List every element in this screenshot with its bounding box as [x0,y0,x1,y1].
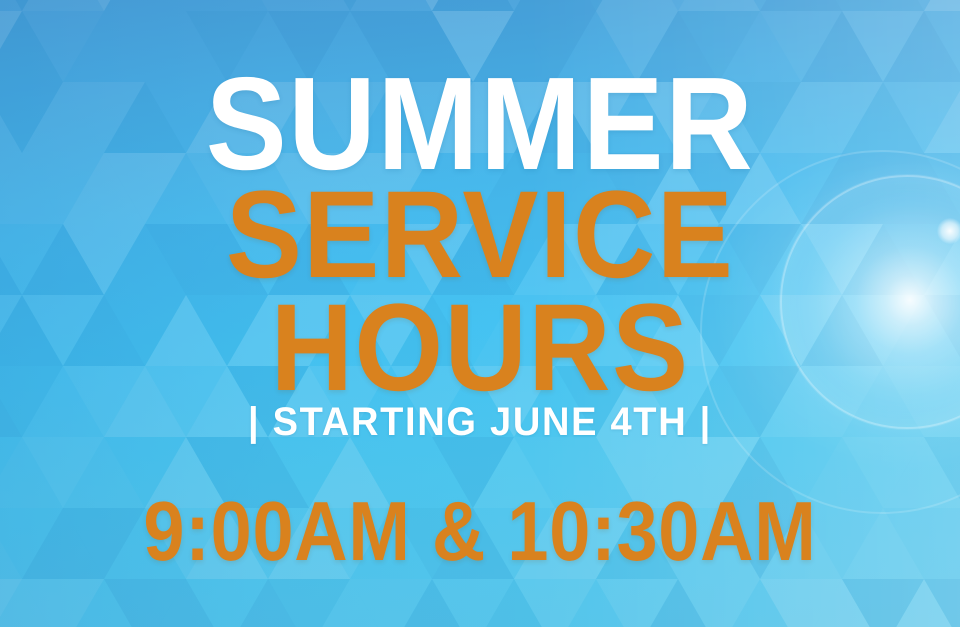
summer-service-hours-poster: SUMMER SERVICE HOURS | STARTING JUNE 4TH… [0,0,960,627]
poster-text-block: SUMMER SERVICE HOURS | STARTING JUNE 4TH… [0,0,960,627]
service-times: 9:00AM & 10:30AM [58,489,903,573]
headline-hours: HOURS [38,286,921,410]
subtitle-start-date: | STARTING JUNE 4TH | [24,402,936,442]
